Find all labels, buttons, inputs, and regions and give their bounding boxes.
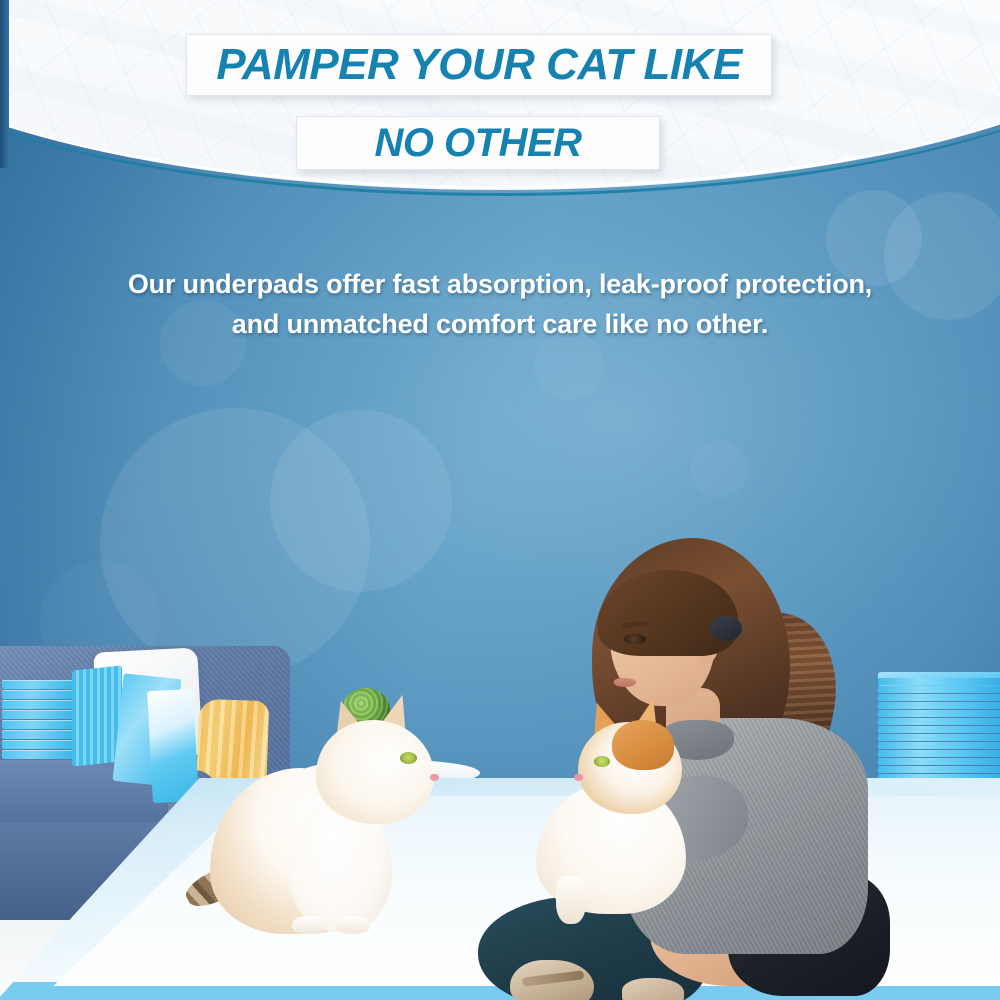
subtitle-line2: and unmatched comfort care like no other… [70,304,930,344]
title-box-line1: PAMPER YOUR CAT LIKE [186,34,772,96]
cat-nose [430,774,439,781]
subtitle-block: Our underpads offer fast absorption, lea… [0,264,1000,344]
kitten-leg [556,876,586,924]
subtitle-line1: Our underpads offer fast absorption, lea… [70,264,930,304]
title-box-line2: NO OTHER [296,116,660,170]
underpad-stack-sofa-left [2,680,77,762]
hair-scrunchie [710,616,742,641]
title-line1-text: PAMPER YOUR CAT LIKE [216,40,741,90]
girl-eye [624,634,646,644]
poster-canvas: PAMPER YOUR CAT LIKE NO OTHER Our underp… [0,0,1000,1000]
decorative-circle [270,410,452,592]
kitten-nose [574,774,583,781]
kitten-orange-patch [612,720,674,770]
title-line2-text: NO OTHER [374,121,581,166]
girl-lips [614,678,636,687]
orange-kitten [520,700,740,930]
kitten-eye [594,756,610,767]
cat-head [316,720,434,824]
cat-eye [400,752,417,764]
cat-paw [336,916,370,934]
cream-cat [196,690,446,940]
girl-foot [622,978,684,1000]
cat-paw [292,916,326,934]
underpad-folded-b [147,689,199,803]
decorative-circle [690,440,748,498]
